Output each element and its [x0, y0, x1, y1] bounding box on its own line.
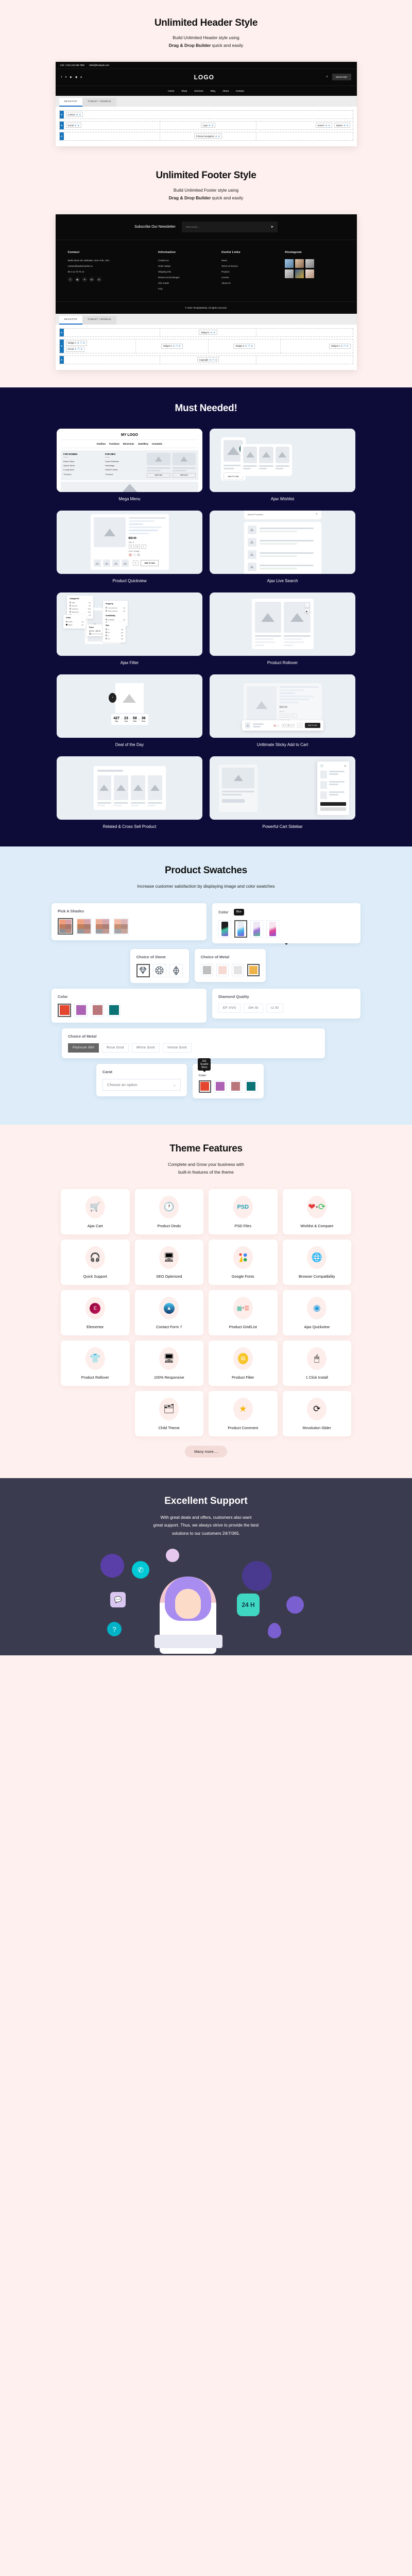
color-swatch[interactable] — [137, 553, 140, 556]
feature-preview-product-quickview[interactable]: $59.00 Size: S S M L Color: Orange — [57, 511, 202, 574]
close-icon[interactable]: ✕ — [213, 331, 215, 334]
add-to-cart-button[interactable]: Add To Cart — [173, 473, 196, 478]
chip-label: Widget 2 — [163, 345, 172, 347]
add-to-cart-button[interactable]: Add To Cart — [147, 473, 170, 478]
list-item[interactable]: Projects — [221, 270, 276, 273]
many-more-button[interactable]: Many more.... — [185, 1446, 227, 1458]
footer-sub-bold: Drag & Drop Builder — [169, 195, 211, 200]
size-option[interactable]: L — [291, 724, 295, 727]
phone-bubble-icon: ✆ — [132, 1561, 149, 1579]
widget-chip-widget2[interactable]: Widget 2⚙❐✕ — [161, 344, 183, 349]
theme-features-subtitle: Complete and Grow your business with bui… — [0, 1161, 412, 1176]
feature-card-ajax-cart[interactable]: 🛒Ajax Cart — [61, 1189, 130, 1234]
widget-chip-widget1[interactable]: Widget 1⚙❐✕ — [66, 341, 88, 346]
color-option[interactable] — [199, 1080, 211, 1093]
checkbox-checked[interactable] — [66, 624, 67, 625]
list-item[interactable]: Order Status — [158, 265, 212, 267]
feature-card-product-deals[interactable]: 🕐Product Deals — [135, 1189, 204, 1234]
card-title: Color — [218, 910, 229, 914]
gear-icon[interactable]: ⚙ — [325, 124, 328, 127]
youtube-icon[interactable]: ▶ — [70, 76, 72, 79]
swatches-title: Product Swatches — [0, 865, 412, 876]
header-preview-mock: Call : (+91) 123 456 7890 Hello@Example.… — [56, 62, 357, 146]
swatch-card-choice-of-stone: Choice of Stone — [130, 949, 189, 983]
quickview-eye-icon[interactable]: ◉ — [305, 609, 309, 613]
nav-item[interactable]: Services — [194, 90, 203, 92]
gear-icon[interactable]: ⚙ — [215, 135, 217, 138]
checkbox[interactable] — [106, 635, 107, 636]
color-block-option[interactable] — [91, 1004, 104, 1017]
tab-desktop[interactable]: DESKTOP — [59, 316, 83, 325]
list-item[interactable]: License — [221, 276, 276, 279]
instagram-thumb[interactable] — [295, 269, 304, 278]
feature-label: Ajax Wishlist — [210, 497, 355, 501]
checkbox[interactable] — [70, 608, 71, 609]
builder-cell[interactable]: Logo⚙✕ — [160, 122, 256, 129]
gear-icon[interactable]: ⚙ — [209, 359, 211, 361]
metal-option[interactable]: White Gold — [132, 1043, 160, 1053]
swatch-card-choice-of-metal-labels: Choice of Metal Platinum 950 Rose Gold W… — [62, 1028, 325, 1058]
feature-item: Add To Cart ♥ Ajax Wishlist — [210, 429, 355, 501]
instagram-grid — [285, 259, 345, 278]
diamond-quality-options: EF-VVS GH-SI IJ-SI — [218, 1004, 354, 1013]
widget-chip-social[interactable]: Social⚙❐✕ — [66, 347, 84, 352]
checkbox[interactable] — [70, 605, 71, 606]
shade-option[interactable] — [76, 918, 92, 935]
phone-swatch[interactable] — [250, 920, 263, 938]
close-icon[interactable]: ✕ — [212, 124, 214, 127]
builder-cell[interactable]: Primary Navigation⚙✕ — [160, 132, 256, 140]
list-item[interactable]: Returns & Exchanges — [158, 276, 212, 279]
list-item[interactable]: Trousers — [105, 472, 143, 477]
feature-card-wishlist-compare[interactable]: ❤+⟳Wishlist & Compare — [283, 1189, 352, 1234]
diamond-option[interactable]: GH-SI — [244, 1004, 263, 1013]
widget-chip-primary-navigation[interactable]: Primary Navigation⚙✕ — [194, 133, 222, 139]
color-block-option[interactable] — [74, 1004, 88, 1017]
checkbox[interactable] — [70, 611, 71, 613]
shopping-cart-icon: 🛒 — [85, 1196, 105, 1218]
feature-card-seo-optimized[interactable]: 🖥SEO Optimized — [135, 1240, 204, 1285]
instagram-icon[interactable]: ◉ — [75, 76, 77, 79]
excellent-support-section: Excellent Support With great deals and o… — [0, 1478, 412, 1656]
metal-color-option[interactable] — [201, 964, 213, 976]
builder-cell[interactable]: Widget 5⚙✕ — [160, 329, 256, 336]
pinterest-icon[interactable]: p — [80, 76, 82, 79]
nav-item[interactable]: Shop — [181, 90, 187, 92]
card-title: Choice of Metal — [68, 1034, 319, 1039]
checkbox[interactable] — [106, 638, 107, 639]
row-settings-handle[interactable]: ✜ — [60, 122, 64, 129]
widget-chip-widget5[interactable]: Widget 5⚙✕ — [199, 330, 217, 335]
tab-tablet-mobile[interactable]: TABLET / MOBILE — [82, 316, 116, 325]
list-item[interactable]: Terms of Service — [221, 265, 276, 267]
gear-icon[interactable]: ⚙ — [211, 331, 213, 334]
stone-option-octagon[interactable] — [153, 964, 166, 977]
instagram-thumb[interactable] — [285, 269, 294, 278]
list-item[interactable]: Size Guide — [158, 282, 212, 284]
close-icon[interactable]: ✕ — [79, 113, 81, 116]
gear-icon[interactable]: ⚙ — [75, 348, 77, 350]
checkbox[interactable] — [70, 602, 71, 603]
twitter-icon[interactable]: ✦ — [82, 277, 87, 282]
google-plus-icon[interactable]: G+ — [90, 277, 94, 282]
phone-swatch[interactable] — [266, 920, 279, 938]
product-swatches-section: Product Swatches Increase customer satis… — [0, 846, 412, 1125]
color-swatch[interactable] — [133, 553, 136, 556]
swatch-card-color-blocks: Color — [51, 989, 207, 1023]
gear-icon[interactable]: ⚙ — [75, 124, 77, 127]
builder-cell[interactable]: Widget 4⚙❐✕ — [281, 340, 353, 353]
checkbox[interactable] — [106, 607, 107, 608]
mega-nav-item[interactable]: Fashion — [97, 443, 106, 445]
instagram-thumb[interactable] — [295, 259, 304, 268]
column-heading: Contact — [68, 251, 149, 254]
view-cart-button[interactable] — [320, 807, 346, 811]
list-item[interactable]: FAQ — [158, 287, 212, 290]
add-to-cart-button[interactable]: Add To Cart — [141, 560, 158, 566]
close-icon[interactable]: ✕ — [347, 345, 349, 347]
feature-card-elementor[interactable]: ΕElementor — [61, 1290, 130, 1335]
builder-row: ✜ Widget 5⚙✕ — [59, 328, 353, 337]
feature-item: $59.00 Size: S S M L Color: Orange — [210, 674, 355, 747]
checkout-button[interactable] — [320, 802, 346, 806]
swatch-card-choice-of-metal-colors: Choice of Metal — [195, 949, 266, 982]
close-icon[interactable]: ✕ — [83, 342, 85, 344]
builder-row: ✜ Widget 1⚙❐✕ Social⚙❐✕ Widget 2⚙❐✕ Widg… — [59, 339, 353, 353]
nav-item[interactable]: Contact — [236, 90, 244, 92]
feature-card-contact-form-7[interactable]: ▲Contact Form 7 — [135, 1290, 204, 1335]
chip-label: Social — [68, 348, 74, 350]
row-settings-handle[interactable]: ✜ — [60, 132, 64, 140]
list-item[interactable]: Smart Watches — [105, 460, 143, 464]
decor-circle — [242, 1561, 272, 1591]
close-icon[interactable]: ✕ — [251, 345, 253, 347]
size-option[interactable]: S — [129, 545, 134, 549]
filter-option[interactable]: Short sleeves(1) — [106, 609, 125, 613]
feature-card-label: Wishlist & Compare — [285, 1224, 349, 1229]
builder-cell[interactable]: Contact⚙✕ — [64, 111, 353, 118]
filter-title: Property — [106, 603, 125, 605]
gear-icon[interactable]: ⚙ — [344, 124, 346, 127]
newsletter-input[interactable]: Enter Email.... ➤ — [182, 222, 278, 232]
tab-tablet-mobile[interactable]: TABLET / MOBILE — [82, 98, 116, 107]
widget-chip-social[interactable]: Social⚙✕ — [66, 123, 82, 128]
duplicate-icon[interactable]: ❐ — [78, 348, 80, 350]
shade-option[interactable] — [58, 918, 73, 935]
linkedin-icon[interactable]: in — [97, 277, 101, 282]
chip-label: Widget 5 — [201, 331, 210, 334]
filter-title: Categories — [70, 598, 91, 600]
feature-card-psd-files[interactable]: PSDPSD Files — [209, 1189, 278, 1234]
metal-label-options: Platinum 950 Rose Gold White Gold Yellow… — [68, 1043, 319, 1053]
diamond-option[interactable]: EF-VVS — [218, 1004, 241, 1013]
header-mock-top: Call : (+91) 123 456 7890 Hello@Example.… — [56, 62, 357, 96]
builder-cell[interactable] — [64, 132, 160, 140]
feature-card-product-comment[interactable]: ★Product Comment — [209, 1391, 278, 1436]
gear-icon[interactable]: ⚙ — [209, 124, 211, 127]
row-settings-handle[interactable]: ✜ — [60, 111, 64, 118]
stone-option-marquise[interactable] — [169, 964, 183, 977]
quantity-stepper[interactable]: 1 — [297, 723, 302, 728]
search-icon[interactable]: ⌕ — [326, 75, 328, 79]
mega-nav-item[interactable]: Cosmetic — [152, 443, 162, 445]
facebook-icon[interactable]: f — [68, 277, 73, 282]
list-item: Walls Street 68, Mahattan, New York, USA — [68, 259, 149, 262]
builder-cell[interactable] — [64, 356, 160, 364]
theme-sub-line1: Complete and Grow your business with — [0, 1161, 412, 1168]
footer-section-subtitle: Build Unlimited Footer style using Drag … — [0, 187, 412, 202]
wishlist-icon[interactable]: ♡ — [305, 603, 309, 607]
nav-item[interactable]: Home — [168, 90, 174, 92]
feature-card-label: Elementor — [63, 1325, 127, 1330]
gear-icon[interactable]: ⚙ — [173, 345, 175, 347]
header-logo: LOGO — [194, 74, 214, 81]
feature-item: MY LOGO Fashion Furniture Electronic Jew… — [57, 429, 202, 501]
chevron-down-icon[interactable]: ⌄ — [173, 1082, 176, 1087]
phone-swatch[interactable] — [218, 920, 231, 938]
nav-item[interactable]: Blog — [211, 90, 215, 92]
instagram-icon[interactable]: ◉ — [75, 277, 80, 282]
size-option[interactable]: S — [280, 714, 285, 718]
close-icon[interactable]: ✕ — [329, 124, 331, 127]
color-option[interactable] — [245, 1080, 257, 1093]
builder-cell[interactable]: Social⚙✕ — [64, 122, 160, 129]
swatches-subtitle: Increase customer satisfaction by displa… — [0, 883, 412, 890]
gear-icon[interactable]: ⚙ — [340, 345, 342, 347]
send-icon[interactable]: ➤ — [271, 225, 273, 229]
list-item[interactable]: About Us — [221, 282, 276, 284]
metal-color-option[interactable] — [247, 964, 260, 976]
size-option[interactable]: S — [282, 724, 286, 727]
widget-chip-button[interactable]: Button⚙✕ — [334, 123, 350, 128]
feature-card-quick-support[interactable]: 🎧Quick Support — [61, 1240, 130, 1285]
color-block-option[interactable] — [107, 1004, 121, 1017]
close-icon[interactable]: ✕ — [179, 345, 181, 347]
quantity-stepper[interactable]: 1 — [133, 561, 139, 566]
feature-card-ajax-quickview[interactable]: ◉Ajax Quickview — [283, 1290, 352, 1335]
metal-option[interactable]: Yellow Gold — [163, 1043, 192, 1053]
feature-preview-related-cross-sell[interactable] — [57, 756, 202, 820]
builder-cell[interactable]: Widget 3⚙❐✕ — [209, 340, 281, 353]
size-option[interactable]: L — [141, 545, 146, 549]
mega-nav-item[interactable]: Electronic — [123, 443, 134, 445]
builder-cell[interactable]: Widget 1⚙❐✕ Social⚙❐✕ — [64, 340, 136, 353]
phone-swatch[interactable] — [234, 920, 247, 938]
gear-icon[interactable]: ⚙ — [76, 113, 78, 116]
column-heading: Information — [158, 251, 212, 254]
mega-nav-item[interactable]: Furniture — [109, 443, 119, 445]
list-item[interactable]: Loung wear — [63, 468, 101, 472]
facebook-icon[interactable]: f — [61, 76, 62, 79]
swatches-grid: Pick A Shades Color Blue — [0, 903, 412, 1098]
widget-chip-logo[interactable]: Logo⚙✕ — [201, 123, 216, 128]
browsers-icon: 🌐 — [307, 1246, 327, 1269]
support-line1: With great deals and offers, customers a… — [161, 1515, 252, 1520]
theme-features-grid: 🛒Ajax Cart 🕐Product Deals PSDPSD Files ❤… — [0, 1189, 412, 1385]
feature-preview-mega-menu[interactable]: MY LOGO Fashion Furniture Electronic Jew… — [57, 429, 202, 492]
feature-card-product-filter[interactable]: ▤Product Filter — [209, 1341, 278, 1386]
carat-select[interactable]: Choose an option ⌄ — [102, 1079, 181, 1091]
list-item[interactable]: Shipping Info — [158, 270, 212, 273]
unlimited-footer-section: Unlimited Footer Style Build Unlimited F… — [0, 159, 412, 387]
footer-column-information: Information Contact us Order Status Ship… — [158, 251, 212, 293]
duplicate-icon[interactable]: ❐ — [212, 359, 214, 361]
widget-chip-widget3[interactable]: Widget 3⚙❐✕ — [233, 344, 255, 349]
close-icon[interactable]: ✕ — [218, 135, 220, 138]
card-title: Diamond Quality — [218, 994, 354, 999]
tab-desktop[interactable]: DESKTOP — [59, 98, 83, 107]
filter-title: Color — [66, 617, 83, 619]
close-icon[interactable]: ✕ — [345, 765, 346, 767]
duplicate-icon[interactable]: ❐ — [80, 342, 82, 344]
feature-preview-deal-of-the-day[interactable]: ◔ 427Day : 23Hour : 58Minu : 36Seco — [57, 674, 202, 738]
timer-icon: ◔ — [109, 693, 116, 703]
search-icon[interactable]: ⌕ — [316, 513, 317, 516]
countdown-unit: Day — [113, 720, 119, 722]
feature-preview-cart-sidebar[interactable]: 🛒✕ — [210, 756, 355, 820]
gear-icon[interactable]: ⚙ — [77, 342, 79, 344]
checkbox[interactable] — [66, 621, 67, 622]
builder-cell[interactable]: Copyright⚙❐✕ — [160, 356, 256, 364]
row-settings-handle[interactable]: ✜ — [60, 356, 64, 364]
list-item[interactable]: Shirts/T-shirts — [105, 468, 143, 472]
color-option[interactable] — [230, 1080, 242, 1093]
list-item[interactable]: News — [221, 259, 276, 262]
checkbox[interactable] — [106, 632, 107, 633]
support-line3: solutions to our customers 24/7/365. — [172, 1531, 240, 1536]
color-tooltip: Blue — [234, 909, 244, 915]
duplicate-icon[interactable]: ❐ — [344, 345, 346, 347]
builder-cell[interactable]: Widget 2⚙❐✕ — [136, 340, 209, 353]
color-swatch[interactable] — [277, 724, 279, 727]
feature-preview-sticky-add-to-cart[interactable]: $59.00 Size: S S M L Color: Orange — [210, 674, 355, 738]
filter-option[interactable]: Black(1) — [66, 623, 83, 626]
psd-file-icon: PSD — [233, 1196, 253, 1218]
feature-card-label: Revolution Slider — [285, 1426, 349, 1431]
unlimited-header-section: Unlimited Header Style Build Unlimited H… — [0, 0, 412, 159]
widget-chip-contact[interactable]: Contact⚙✕ — [66, 112, 83, 117]
feature-preview-product-rollover[interactable]: ♡ ◉ — [210, 592, 355, 656]
feature-preview-ajax-live-search[interactable]: Search Products... ⌕ — [210, 511, 355, 574]
widget-chip-search[interactable]: Search⚙✕ — [316, 123, 333, 128]
color-block-option[interactable] — [58, 1004, 71, 1017]
checkbox[interactable] — [106, 629, 107, 630]
need-help-button[interactable]: Need Help? — [332, 74, 351, 80]
feature-preview-ajax-wishlist[interactable]: Add To Cart ♥ — [210, 429, 355, 492]
devices-icon: 🖥 — [159, 1347, 179, 1370]
filter-icon: ▤ — [233, 1347, 253, 1370]
builder-cell[interactable] — [64, 329, 160, 336]
feature-card-browser-compatibility[interactable]: 🌐Browser Compatibility — [283, 1240, 352, 1285]
filter-option[interactable]: XL(0) — [106, 637, 123, 640]
feature-card-revolution-slider[interactable]: ⟳Revolution Slider — [283, 1391, 352, 1436]
close-icon[interactable]: ✕ — [347, 124, 349, 127]
theme-sub-line2: built-in features of the theme — [0, 1168, 412, 1176]
builder-cell[interactable] — [256, 132, 352, 140]
builder-cell[interactable] — [256, 356, 352, 364]
checkbox[interactable] — [106, 619, 107, 620]
feature-card-product-rollover[interactable]: 👕Product Rollover — [61, 1341, 130, 1386]
widget-chip-copyright[interactable]: Copyright⚙❐✕ — [197, 357, 219, 362]
duplicate-icon[interactable]: ❐ — [176, 345, 178, 347]
gear-icon[interactable]: ⚙ — [245, 345, 247, 347]
metal-color-option[interactable] — [232, 964, 244, 976]
header-social-list: f✦ ▶◉ p — [61, 76, 82, 79]
countdown-unit: Seco — [142, 720, 146, 722]
list-item[interactable]: Sports Wear — [63, 464, 101, 468]
duplicate-icon[interactable]: ❐ — [248, 345, 250, 347]
color-swatch[interactable] — [273, 724, 276, 727]
color-option[interactable] — [214, 1080, 227, 1093]
instagram-thumb[interactable] — [305, 259, 314, 268]
close-icon[interactable]: ✕ — [78, 124, 80, 127]
feature-preview-ajax-filter[interactable]: Categories Man(1) Woman(5) Furniture(10)… — [57, 592, 202, 656]
shade-option[interactable] — [113, 918, 129, 935]
chip-label: Widget 4 — [331, 345, 340, 347]
list-item[interactable]: Contact us — [158, 259, 212, 262]
feature-card-label: Quick Support — [63, 1274, 127, 1279]
mega-nav-item[interactable]: Jewellery — [138, 443, 148, 445]
diamond-option[interactable]: IJ-SI — [266, 1004, 283, 1013]
feature-card-product-grid-list[interactable]: ▦+☰Product Grid/List — [209, 1290, 278, 1335]
feature-card-1-click-install[interactable]: 🖱1 Click Install — [283, 1341, 352, 1386]
color-swatch[interactable] — [129, 553, 132, 556]
newsletter-title: Subscribe Our Newsletter — [134, 225, 176, 229]
twitter-icon[interactable]: ✦ — [65, 76, 67, 79]
row-settings-handle[interactable]: ✜ — [60, 329, 64, 336]
checkbox[interactable] — [106, 610, 107, 612]
builder-cell[interactable] — [256, 329, 352, 336]
instagram-thumb[interactable] — [285, 259, 294, 268]
google-fonts-icon — [233, 1246, 253, 1269]
metal-option[interactable]: Rose Gold — [102, 1043, 129, 1053]
shade-options — [58, 918, 200, 935]
close-icon[interactable]: ✕ — [215, 359, 217, 361]
list-item[interactable]: Trousers — [63, 472, 101, 477]
feature-card-label: Ajax Quickview — [285, 1325, 349, 1330]
shade-option[interactable] — [95, 918, 110, 935]
filter-title: Size — [106, 624, 123, 626]
nav-item[interactable]: About — [222, 90, 229, 92]
metal-color-option[interactable] — [216, 964, 229, 976]
feature-card-child-theme[interactable]: 🗂Child Theme — [135, 1391, 204, 1436]
countdown-value: 23 — [124, 717, 128, 720]
widget-chip-widget4[interactable]: Widget 4⚙❐✕ — [329, 344, 351, 349]
size-option[interactable]: M — [135, 545, 141, 549]
size-option[interactable]: M — [286, 724, 290, 727]
card-title: Carat — [102, 1070, 181, 1074]
size-option[interactable]: M — [286, 714, 291, 718]
size-option[interactable]: L — [292, 714, 297, 718]
chip-label: Button — [336, 124, 342, 127]
feature-label: Product Rollover — [210, 660, 355, 665]
header-sub-line1: Build Unlimited Header style using — [0, 34, 412, 42]
stone-option-round-brilliant[interactable] — [136, 964, 150, 977]
close-icon[interactable]: ✕ — [80, 348, 82, 350]
add-to-cart-button[interactable]: Add To Cart — [305, 723, 320, 728]
card-title: Pick A Shades — [58, 909, 200, 913]
metal-option-selected[interactable]: Platinum 950 — [68, 1043, 99, 1053]
question-bubble-icon: ? — [107, 1622, 122, 1636]
builder-cell[interactable]: Search⚙✕ Button⚙✕ — [256, 122, 352, 129]
header-primary-nav: Home Shop Services Blog About Contact — [56, 86, 357, 96]
instagram-thumb[interactable] — [305, 269, 314, 278]
list-item[interactable]: Ethnic Wear — [63, 460, 101, 464]
feature-card-google-fonts[interactable]: Google Fonts — [209, 1240, 278, 1285]
feature-card-100-responsive[interactable]: 🖥100% Responsive — [135, 1341, 204, 1386]
list-item[interactable]: Handbags — [105, 464, 143, 468]
row-settings-handle[interactable]: ✜ — [60, 340, 64, 353]
